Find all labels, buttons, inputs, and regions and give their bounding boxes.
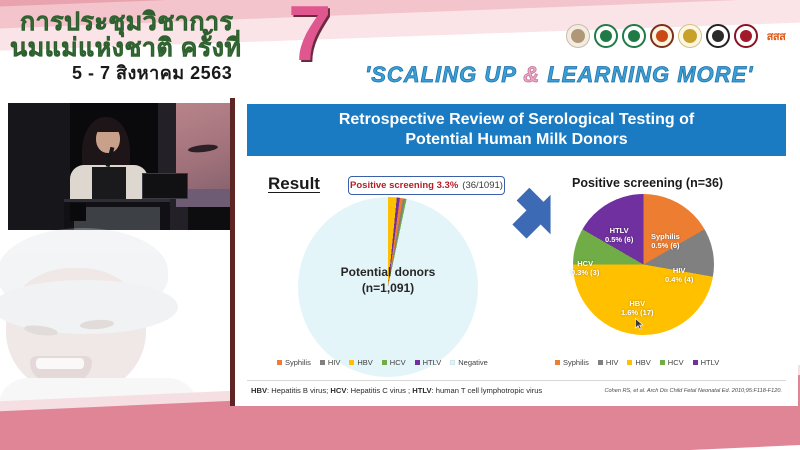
sponsor-logo-icon-3 xyxy=(622,24,646,48)
fn-hcv-def: : Hepatitis C virus ; xyxy=(346,386,412,395)
sponsor-logo-icon-6 xyxy=(706,24,730,48)
legend-potential-donors: SyphilisHIVHBVHCVHTLVNegative xyxy=(277,358,488,367)
legend-item-syphilis: Syphilis xyxy=(555,358,589,367)
sponsor-logo-icon-2 xyxy=(594,24,618,48)
legend-item-hbv: HBV xyxy=(627,358,650,367)
podium-glass-panel xyxy=(74,207,160,230)
legend-label: Negative xyxy=(458,358,488,367)
presenter-video-panel[interactable] xyxy=(8,103,230,230)
baby-teeth xyxy=(36,358,84,369)
tagline-part-right: LEARNING MORE' xyxy=(540,62,753,87)
legend-item-syphilis: Syphilis xyxy=(277,358,311,367)
fn-hbv-def: : Hepatitis B virus; xyxy=(267,386,330,395)
legend-swatch-icon xyxy=(382,360,387,365)
legend-swatch-icon xyxy=(320,360,325,365)
conference-edition-number: 7 xyxy=(288,0,331,72)
legend-swatch-icon xyxy=(277,360,282,365)
pie-slice-label-hcv: HCV0.3% (3) xyxy=(571,259,599,278)
legend-item-htlv: HTLV xyxy=(693,358,720,367)
legend-item-hcv: HCV xyxy=(660,358,684,367)
legend-swatch-icon xyxy=(349,360,354,365)
pie-slice-label-syphilis: Syphilis0.5% (6) xyxy=(651,232,680,251)
legend-item-negative: Negative xyxy=(450,358,488,367)
legend-positive-screening: SyphilisHIVHBVHCVHTLV xyxy=(555,358,719,367)
slide-title-line2: Potential Human Milk Donors xyxy=(405,130,627,150)
positive-screening-callout: Positive screening 3.3% (36/1091) xyxy=(348,176,505,195)
legend-label: HTLV xyxy=(701,358,720,367)
legend-swatch-icon xyxy=(627,360,632,365)
presenter-fringe xyxy=(94,121,122,132)
abbreviation-definitions: HBV: Hepatitis B virus; HCV: Hepatitis C… xyxy=(251,386,542,395)
sponsor-logo-icon-5 xyxy=(678,24,702,48)
video-background-left xyxy=(8,103,70,230)
positive-screening-pie-chart: Syphilis0.5% (6) HIV0.4% (4) HBV1.6% (17… xyxy=(573,194,714,335)
sponsor-logo-icon-4 xyxy=(650,24,674,48)
laptop-icon xyxy=(142,173,188,199)
legend-swatch-icon xyxy=(693,360,698,365)
legend-swatch-icon xyxy=(660,360,665,365)
mouse-cursor-icon xyxy=(635,318,644,330)
fn-htlv-key: HTLV xyxy=(412,386,431,395)
callout-percentage-text: Positive screening 3.3% xyxy=(350,180,458,191)
pie-slice-label-hbv: HBV1.6% (17) xyxy=(621,299,654,318)
fn-hcv-key: HCV xyxy=(330,386,346,395)
legend-item-hcv: HCV xyxy=(382,358,406,367)
result-heading: Result xyxy=(268,174,320,194)
legend-label: HBV xyxy=(635,358,650,367)
podium-block xyxy=(70,203,86,221)
tagline-ampersand: & xyxy=(523,62,540,87)
video-baby-eye xyxy=(188,143,219,153)
slide-title-line1: Retrospective Review of Serological Test… xyxy=(339,110,694,130)
legend-item-hiv: HIV xyxy=(598,358,619,367)
legend-label: HTLV xyxy=(423,358,442,367)
sponsor-logo-icon-1 xyxy=(566,24,590,48)
potential-donors-caption-line2: (n=1,091) xyxy=(298,281,478,295)
baby-watermark-image xyxy=(0,228,222,413)
legend-swatch-icon xyxy=(555,360,560,365)
conference-tagline: 'SCALING UP & LEARNING MORE' xyxy=(365,62,753,88)
potential-donors-caption-line1: Potential donors xyxy=(298,265,478,279)
legend-label: HCV xyxy=(668,358,684,367)
source-citation: Cohen RS, et al. Arch Dis Child Fetal Ne… xyxy=(604,388,782,394)
sponsor-logo-row: สสส xyxy=(566,24,790,48)
positive-screening-chart-title: Positive screening (n=36) xyxy=(572,176,772,190)
fn-htlv-def: : human T cell lymphotropic virus xyxy=(432,386,543,395)
legend-item-htlv: HTLV xyxy=(415,358,442,367)
legend-swatch-icon xyxy=(598,360,603,365)
pie-slice-label-htlv: HTLV0.5% (6) xyxy=(605,226,633,245)
legend-label: HBV xyxy=(357,358,372,367)
legend-label: HIV xyxy=(328,358,341,367)
slide-footnote: HBV: Hepatitis B virus; HCV: Hepatitis C… xyxy=(247,380,786,400)
legend-label: HCV xyxy=(390,358,406,367)
conference-header-banner: การประชุมวิชาการ นมแม่แห่งชาติ ครั้งที่ … xyxy=(0,0,800,95)
sponsor-logo-icon-7 xyxy=(734,24,758,48)
presentation-screen: การประชุมวิชาการ นมแม่แห่งชาติ ครั้งที่ … xyxy=(0,0,800,450)
slide-title: Retrospective Review of Serological Test… xyxy=(247,104,786,156)
legend-swatch-icon xyxy=(415,360,420,365)
blue-arrow-icon xyxy=(507,188,569,248)
fn-hbv-key: HBV xyxy=(251,386,267,395)
slide-content: Retrospective Review of Serological Test… xyxy=(235,98,798,406)
thaihealth-logo-icon: สสส xyxy=(762,24,790,48)
legend-item-hiv: HIV xyxy=(320,358,341,367)
legend-item-hbv: HBV xyxy=(349,358,372,367)
legend-label: Syphilis xyxy=(285,358,311,367)
legend-swatch-icon xyxy=(450,360,455,365)
legend-label: Syphilis xyxy=(563,358,589,367)
callout-fraction-text: (36/1091) xyxy=(462,180,503,191)
pie-slice-label-hiv: HIV0.4% (4) xyxy=(665,266,693,285)
potential-donors-pie-chart: Potential donors (n=1,091) xyxy=(298,197,478,377)
legend-label: HIV xyxy=(606,358,619,367)
conference-date: 5 - 7 สิงหาคม 2563 xyxy=(72,58,232,87)
tagline-part-left: 'SCALING UP xyxy=(365,62,523,87)
